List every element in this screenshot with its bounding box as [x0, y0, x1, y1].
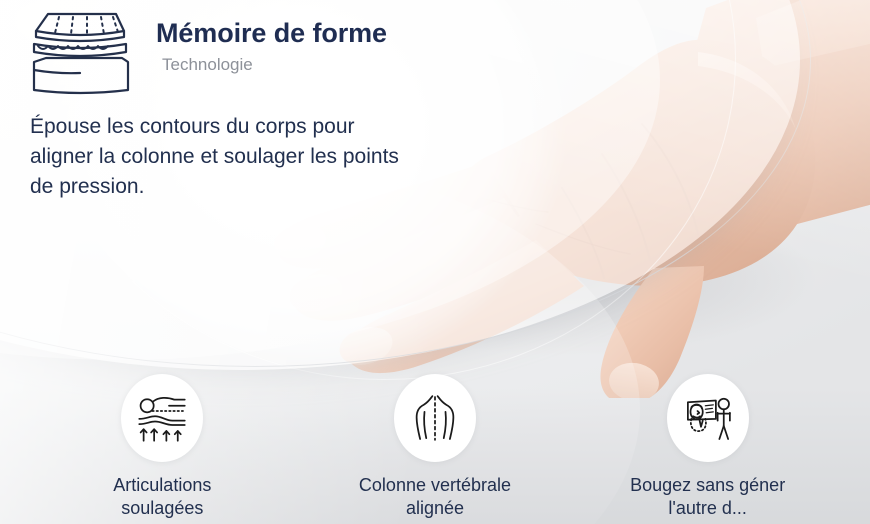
feature-label-motion: Bougez sans géner l'autre d...	[618, 474, 798, 520]
feature-list: Articulations soulagées Colonne vertébra…	[0, 374, 870, 520]
memory-foam-feature-card: Mémoire de forme Technologie Épouse les …	[0, 0, 870, 524]
mattress-layers-icon	[18, 8, 134, 98]
feature-item-joints: Articulations soulagées	[52, 374, 272, 520]
person-lying-support-arrows-icon	[134, 390, 190, 446]
feature-item-motion: Bougez sans géner l'autre d...	[598, 374, 818, 520]
couple-motion-isolation-icon	[680, 390, 736, 446]
page-title: Mémoire de forme	[156, 18, 387, 49]
spine-alignment-back-icon	[407, 390, 463, 446]
page-subtitle: Technologie	[162, 55, 387, 75]
description-text: Épouse les contours du corps pour aligne…	[30, 112, 420, 201]
card-header: Mémoire de forme Technologie	[18, 8, 387, 98]
feature-item-spine: Colonne vertébrale alignée	[325, 374, 545, 520]
feature-label-joints: Articulations soulagées	[72, 474, 252, 520]
feature-badge-joints	[121, 374, 203, 462]
feature-badge-motion	[667, 374, 749, 462]
feature-label-spine: Colonne vertébrale alignée	[345, 474, 525, 520]
feature-badge-spine	[394, 374, 476, 462]
